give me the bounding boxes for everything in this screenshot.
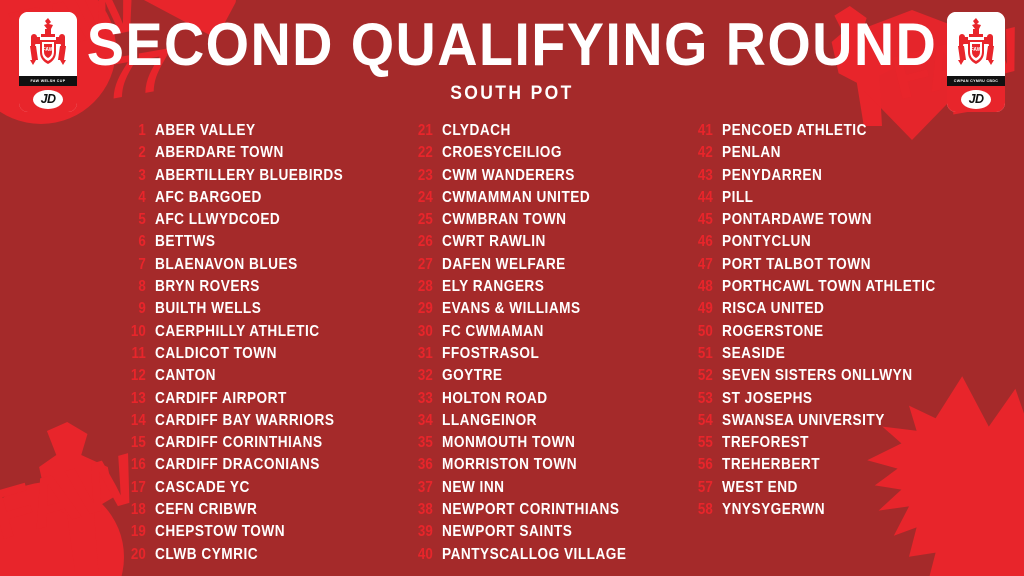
team-rank: 26 (411, 233, 433, 251)
team-row: 34LLANGEINOR (407, 412, 682, 434)
team-name: PENLAN (722, 144, 781, 162)
team-rank: 41 (691, 122, 713, 140)
team-rank: 25 (411, 211, 433, 229)
team-name: CANTON (155, 367, 216, 385)
team-rank: 49 (691, 300, 713, 318)
team-row: 28ELY RANGERS (407, 278, 682, 300)
team-rank: 46 (691, 233, 713, 251)
team-rank: 13 (124, 390, 146, 408)
team-rank: 6 (124, 233, 146, 251)
team-rank: 28 (411, 278, 433, 296)
page-subtitle: SOUTH POT (41, 83, 983, 105)
team-row: 43PENYDARREN (687, 167, 987, 189)
team-rank: 8 (124, 278, 146, 296)
team-row: 49RISCA UNITED (687, 300, 987, 322)
team-name: SWANSEA UNIVERSITY (722, 412, 885, 430)
team-rank: 55 (691, 434, 713, 452)
team-rank: 12 (124, 367, 146, 385)
team-rank: 50 (691, 323, 713, 341)
team-row: 50ROGERSTONE (687, 323, 987, 345)
team-name: CARDIFF CORINTHIANS (155, 434, 323, 452)
team-row: 13CARDIFF AIRPORT (120, 390, 395, 412)
team-row: 3ABERTILLERY BLUEBIRDS (120, 167, 395, 189)
team-name: PILL (722, 189, 753, 207)
team-name: PONTYCLUN (722, 233, 811, 251)
team-rank: 58 (691, 501, 713, 519)
team-row: 44PILL (687, 189, 987, 211)
team-name: PENCOED ATHLETIC (722, 122, 867, 140)
team-name: NEW INN (442, 479, 504, 497)
team-rank: 33 (411, 390, 433, 408)
team-rank: 54 (691, 412, 713, 430)
team-rank: 11 (124, 345, 146, 363)
team-rank: 15 (124, 434, 146, 452)
team-row: 46PONTYCLUN (687, 233, 987, 255)
team-row: 30FC CWMAMAN (407, 323, 682, 345)
team-name: CARDIFF BAY WARRIORS (155, 412, 334, 430)
team-name: CWRT RAWLIN (442, 233, 546, 251)
team-rank: 57 (691, 479, 713, 497)
team-rank: 56 (691, 456, 713, 474)
team-rank: 40 (411, 546, 433, 564)
team-rank: 1 (124, 122, 146, 140)
team-row: 16CARDIFF DRACONIANS (120, 456, 395, 478)
team-row: 32GOYTRE (407, 367, 682, 389)
team-row: 42PENLAN (687, 144, 987, 166)
team-name: CLYDACH (442, 122, 511, 140)
team-rank: 39 (411, 523, 433, 541)
team-row: 15CARDIFF CORINTHIANS (120, 434, 395, 456)
team-rank: 14 (124, 412, 146, 430)
team-name: PENYDARREN (722, 167, 822, 185)
team-name: ABERDARE TOWN (155, 144, 284, 162)
team-name: LLANGEINOR (442, 412, 537, 430)
team-rank: 2 (124, 144, 146, 162)
team-row: 55TREFOREST (687, 434, 987, 456)
team-row: 57WEST END (687, 479, 987, 501)
team-row: 24CWMAMMAN UNITED (407, 189, 682, 211)
team-name: PANTYSCALLOG VILLAGE (442, 546, 626, 564)
team-name: CARDIFF AIRPORT (155, 390, 287, 408)
header: SECOND QUALIFYING ROUND SOUTH POT (0, 14, 1024, 105)
team-name: FFOSTRASOL (442, 345, 539, 363)
team-row: 12CANTON (120, 367, 395, 389)
team-name: MONMOUTH TOWN (442, 434, 575, 452)
team-row: 25CWMBRAN TOWN (407, 211, 682, 233)
team-rank: 48 (691, 278, 713, 296)
team-name: CARDIFF DRACONIANS (155, 456, 320, 474)
team-row: 31FFOSTRASOL (407, 345, 682, 367)
team-name: CWMBRAN TOWN (442, 211, 567, 229)
team-rank: 27 (411, 256, 433, 274)
team-name: TREHERBERT (722, 456, 820, 474)
team-name: HOLTON ROAD (442, 390, 548, 408)
team-row: 18CEFN CRIBWR (120, 501, 395, 523)
team-rank: 35 (411, 434, 433, 452)
team-rank: 36 (411, 456, 433, 474)
team-rank: 45 (691, 211, 713, 229)
team-rank: 31 (411, 345, 433, 363)
team-rank: 37 (411, 479, 433, 497)
team-name: CLWB CYMRIC (155, 546, 258, 564)
team-row: 27DAFEN WELFARE (407, 256, 682, 278)
team-row: 10CAERPHILLY ATHLETIC (120, 323, 395, 345)
team-rank: 32 (411, 367, 433, 385)
team-name: CHEPSTOW TOWN (155, 523, 285, 541)
team-rank: 17 (124, 479, 146, 497)
team-rank: 4 (124, 189, 146, 207)
team-row: 48PORTHCAWL TOWN ATHLETIC (687, 278, 987, 300)
team-name: ELY RANGERS (442, 278, 544, 296)
team-row: 8BRYN ROVERS (120, 278, 395, 300)
team-name: BLAENAVON BLUES (155, 256, 298, 274)
team-name: BUILTH WELLS (155, 300, 261, 318)
team-name: NEWPORT CORINTHIANS (442, 501, 619, 519)
team-rank: 21 (411, 122, 433, 140)
team-rank: 43 (691, 167, 713, 185)
page-title: SECOND QUALIFYING ROUND (36, 14, 988, 76)
team-row: 6BETTWS (120, 233, 395, 255)
team-row: 14CARDIFF BAY WARRIORS (120, 412, 395, 434)
team-name: EVANS & WILLIAMS (442, 300, 581, 318)
team-name: CROESYCEILIOG (442, 144, 562, 162)
team-row: 51SEASIDE (687, 345, 987, 367)
team-rank: 22 (411, 144, 433, 162)
team-name: TREFOREST (722, 434, 809, 452)
team-name: SEASIDE (722, 345, 785, 363)
team-rank: 10 (124, 323, 146, 341)
team-name: GOYTRE (442, 367, 503, 385)
team-row: 58YNYSYGERWN (687, 501, 987, 523)
team-rank: 44 (691, 189, 713, 207)
team-rank: 23 (411, 167, 433, 185)
team-name: SEVEN SISTERS ONLLWYN (722, 367, 913, 385)
draw-graphic: FAW 77 FAW 18 FAW (0, 0, 1024, 576)
team-row: 11CALDICOT TOWN (120, 345, 395, 367)
team-name: ST JOSEPHS (722, 390, 813, 408)
team-rank: 42 (691, 144, 713, 162)
team-name: RISCA UNITED (722, 300, 824, 318)
team-name: BETTWS (155, 233, 216, 251)
team-row: 17CASCADE YC (120, 479, 395, 501)
team-rank: 34 (411, 412, 433, 430)
team-rank: 30 (411, 323, 433, 341)
team-name: ROGERSTONE (722, 323, 824, 341)
team-column-3: 41PENCOED ATHLETIC42PENLAN43PENYDARREN44… (687, 122, 987, 568)
team-name: CEFN CRIBWR (155, 501, 257, 519)
team-row: 39NEWPORT SAINTS (407, 523, 682, 545)
team-row: 22CROESYCEILIOG (407, 144, 682, 166)
team-name: FC CWMAMAN (442, 323, 544, 341)
team-row: 4AFC BARGOED (120, 189, 395, 211)
team-rank: 20 (124, 546, 146, 564)
team-name: WEST END (722, 479, 798, 497)
team-rank: 24 (411, 189, 433, 207)
team-name: DAFEN WELFARE (442, 256, 566, 274)
team-row: 41PENCOED ATHLETIC (687, 122, 987, 144)
team-name: AFC BARGOED (155, 189, 262, 207)
team-row: 45PONTARDAWE TOWN (687, 211, 987, 233)
team-row: 5AFC LLWYDCOED (120, 211, 395, 233)
team-columns: 1ABER VALLEY2ABERDARE TOWN3ABERTILLERY B… (0, 122, 1024, 568)
team-row: 52SEVEN SISTERS ONLLWYN (687, 367, 987, 389)
team-row: 33HOLTON ROAD (407, 390, 682, 412)
team-rank: 52 (691, 367, 713, 385)
team-row: 53ST JOSEPHS (687, 390, 987, 412)
team-row: 29EVANS & WILLIAMS (407, 300, 682, 322)
team-row: 26CWRT RAWLIN (407, 233, 682, 255)
team-name: ABER VALLEY (155, 122, 256, 140)
team-name: CWMAMMAN UNITED (442, 189, 590, 207)
team-name: PONTARDAWE TOWN (722, 211, 872, 229)
team-rank: 16 (124, 456, 146, 474)
team-name: MORRISTON TOWN (442, 456, 577, 474)
team-column-1: 1ABER VALLEY2ABERDARE TOWN3ABERTILLERY B… (120, 122, 395, 568)
team-row: 2ABERDARE TOWN (120, 144, 395, 166)
team-row: 19CHEPSTOW TOWN (120, 523, 395, 545)
team-name: BRYN ROVERS (155, 278, 260, 296)
team-row: 56TREHERBERT (687, 456, 987, 478)
team-rank: 47 (691, 256, 713, 274)
team-rank: 51 (691, 345, 713, 363)
team-rank: 29 (411, 300, 433, 318)
team-row: 40PANTYSCALLOG VILLAGE (407, 546, 682, 568)
team-rank: 18 (124, 501, 146, 519)
team-name: AFC LLWYDCOED (155, 211, 280, 229)
team-row: 37NEW INN (407, 479, 682, 501)
team-row: 35MONMOUTH TOWN (407, 434, 682, 456)
team-row: 23CWM WANDERERS (407, 167, 682, 189)
team-column-2: 21CLYDACH22CROESYCEILIOG23CWM WANDERERS2… (407, 122, 682, 568)
team-rank: 9 (124, 300, 146, 318)
team-rank: 5 (124, 211, 146, 229)
team-name: CALDICOT TOWN (155, 345, 277, 363)
team-name: CASCADE YC (155, 479, 250, 497)
team-rank: 53 (691, 390, 713, 408)
team-rank: 19 (124, 523, 146, 541)
team-row: 38NEWPORT CORINTHIANS (407, 501, 682, 523)
team-row: 47PORT TALBOT TOWN (687, 256, 987, 278)
team-name: ABERTILLERY BLUEBIRDS (155, 167, 343, 185)
team-row: 1ABER VALLEY (120, 122, 395, 144)
team-row: 21CLYDACH (407, 122, 682, 144)
team-name: NEWPORT SAINTS (442, 523, 572, 541)
team-row: 54SWANSEA UNIVERSITY (687, 412, 987, 434)
team-rank: 7 (124, 256, 146, 274)
team-row: 7BLAENAVON BLUES (120, 256, 395, 278)
team-name: YNYSYGERWN (722, 501, 825, 519)
team-name: CAERPHILLY ATHLETIC (155, 323, 320, 341)
team-name: PORTHCAWL TOWN ATHLETIC (722, 278, 936, 296)
team-row: 36MORRISTON TOWN (407, 456, 682, 478)
team-row: 20CLWB CYMRIC (120, 546, 395, 568)
team-rank: 38 (411, 501, 433, 519)
team-row: 9BUILTH WELLS (120, 300, 395, 322)
team-rank: 3 (124, 167, 146, 185)
team-name: CWM WANDERERS (442, 167, 575, 185)
team-name: PORT TALBOT TOWN (722, 256, 871, 274)
